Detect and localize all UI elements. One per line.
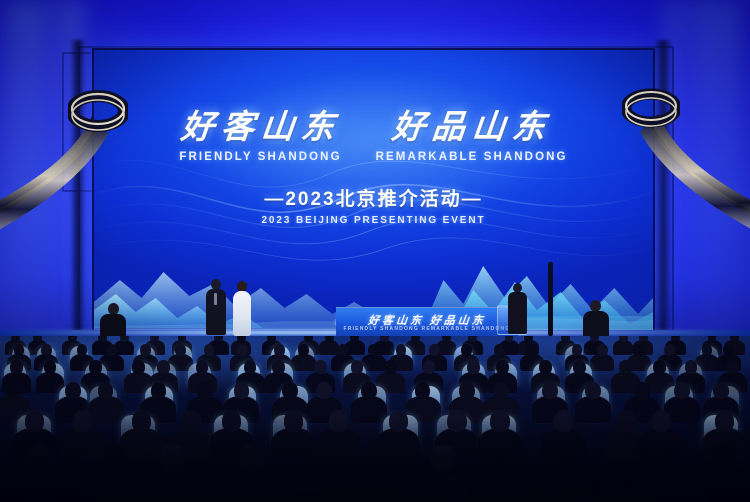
photo-vignette (0, 0, 750, 502)
event-photo: 好客山东 FRIENDLY SHANDONG 好品山东 REMARKABLE S… (0, 0, 750, 502)
